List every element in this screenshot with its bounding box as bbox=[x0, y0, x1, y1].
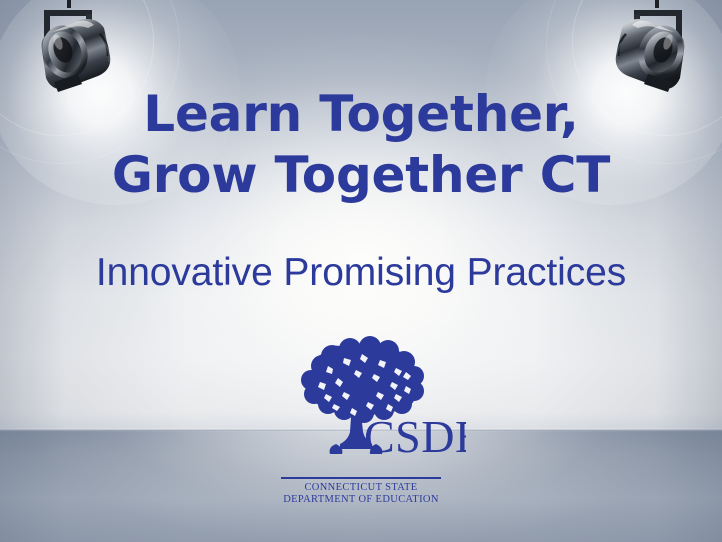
title-line-1: Learn Together, bbox=[0, 84, 722, 145]
charter-oak-tree-icon: CSDE bbox=[256, 336, 466, 476]
slide-subtitle: Innovative Promising Practices bbox=[0, 250, 722, 296]
logo-divider-rule bbox=[281, 477, 441, 479]
title-line-2: Grow Together CT bbox=[0, 145, 722, 206]
slide-title: Learn Together, Grow Together CT bbox=[0, 84, 722, 206]
logo-org-line-2: DEPARTMENT OF EDUCATION bbox=[256, 494, 466, 506]
title-slide: Learn Together, Grow Together CT Innovat… bbox=[0, 0, 722, 542]
svg-text:CSDE: CSDE bbox=[364, 411, 466, 462]
csde-logo: CSDE CONNECTICUT STATE DEPARTMENT OF EDU… bbox=[256, 336, 466, 506]
logo-org-line-1: CONNECTICUT STATE bbox=[256, 482, 466, 494]
